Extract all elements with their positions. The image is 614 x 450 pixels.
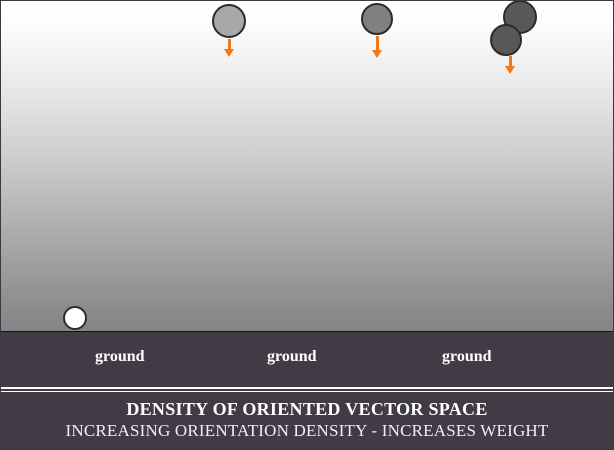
dark-node-lower xyxy=(490,24,522,56)
arrow-head-icon xyxy=(224,49,234,57)
arrow-head-icon xyxy=(505,66,515,74)
force-arrow-node-2 xyxy=(367,36,387,58)
diagram-canvas: ground ground ground DENSITY OF ORIENTED… xyxy=(0,0,614,450)
caption-title: DENSITY OF ORIENTED VECTOR SPACE xyxy=(1,399,613,420)
caption-panel: DENSITY OF ORIENTED VECTOR SPACE INCREAS… xyxy=(1,392,613,449)
medium-node xyxy=(361,3,393,35)
ground-label-3: ground xyxy=(442,348,492,366)
ground-label-1: ground xyxy=(95,348,145,366)
separator-bar-top xyxy=(1,385,613,387)
caption-subtitle: INCREASING ORIENTATION DENSITY - INCREAS… xyxy=(1,420,613,441)
light-node xyxy=(212,4,246,38)
separator-bar-bottom xyxy=(1,389,613,391)
force-arrow-node-3b xyxy=(500,56,520,74)
arrow-shaft xyxy=(376,36,379,51)
ground-strip: ground ground ground xyxy=(1,331,613,386)
landed-node xyxy=(63,306,87,330)
panel-separator xyxy=(1,385,613,392)
arrow-head-icon xyxy=(372,50,382,58)
force-arrow-node-1 xyxy=(219,39,239,57)
ground-label-2: ground xyxy=(267,348,317,366)
density-gradient-field xyxy=(1,1,613,331)
